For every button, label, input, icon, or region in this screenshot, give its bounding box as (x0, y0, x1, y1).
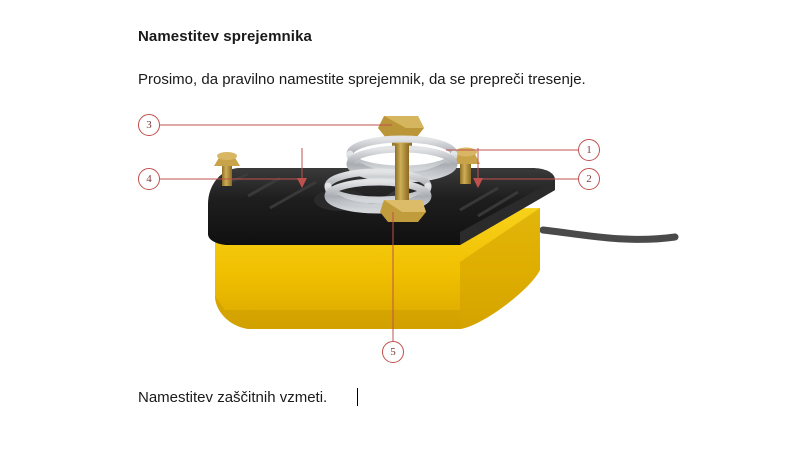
figure-caption: Namestitev zaščitnih vzmeti. (138, 389, 327, 406)
intro-paragraph: Prosimo, da pravilno namestite sprejemni… (138, 71, 586, 88)
receiver-illustration (130, 104, 690, 374)
callout-3: 3 (138, 114, 160, 136)
callout-1: 1 (578, 139, 600, 161)
callout-2: 2 (578, 168, 600, 190)
page-title: Namestitev sprejemnika (138, 28, 312, 45)
callout-4: 4 (138, 168, 160, 190)
receiver-mounting-figure: 3 4 1 2 5 (130, 104, 690, 374)
text-cursor (357, 388, 358, 406)
callout-5: 5 (382, 341, 404, 363)
document-page: Namestitev sprejemnika Prosimo, da pravi… (0, 0, 800, 450)
